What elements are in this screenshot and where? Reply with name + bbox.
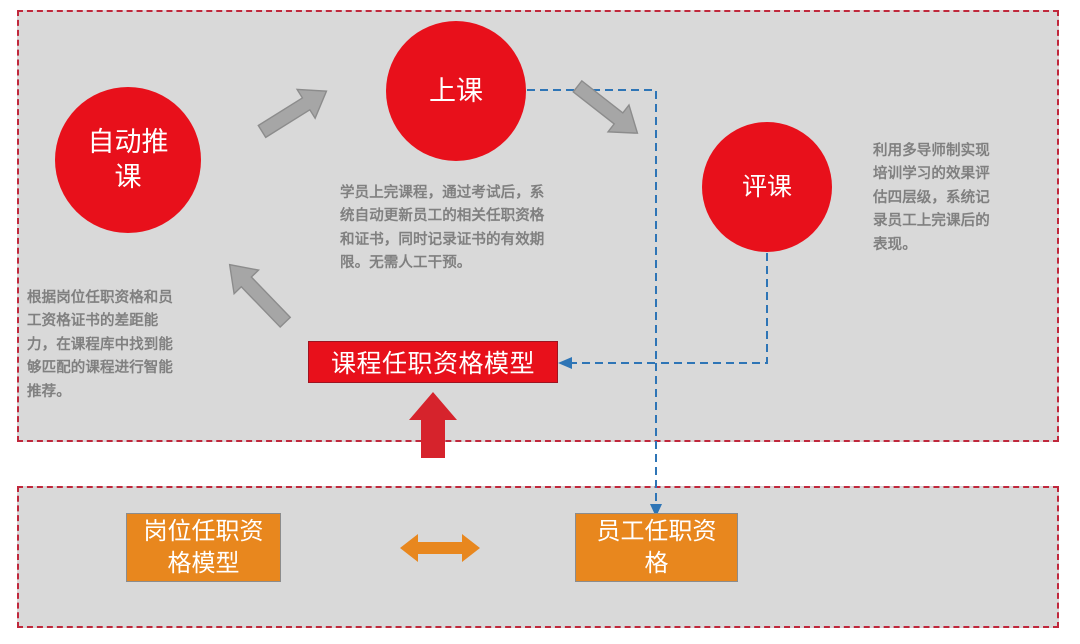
- description-left: 根据岗位任职资格和员工资格证书的差距能力，在课程库中找到能够匹配的课程进行智能推…: [27, 287, 179, 404]
- description-center: 学员上完课程，通过考试后，系统自动更新员工的相关任职资格和证书，同时记录证书的有…: [340, 182, 558, 276]
- node-review-class[interactable]: 评课: [702, 122, 832, 252]
- box-course-qualification-model[interactable]: 课程任职资格模型: [308, 341, 558, 383]
- node-attend-class[interactable]: 上课: [386, 21, 526, 161]
- box-post-qualification-model[interactable]: 岗位任职资 格模型: [126, 513, 281, 582]
- node-auto-push-course[interactable]: 自动推 课: [55, 87, 201, 233]
- box-employee-qualification[interactable]: 员工任职资 格: [575, 513, 738, 582]
- description-right: 利用多导师制实现培训学习的效果评估四层级，系统记录员工上完课后的表现。: [873, 140, 995, 257]
- diagram-canvas: 自动推 课 上课 评课 学员上完课程，通过考试后，系统自动更新员工的相关任职资格…: [0, 0, 1080, 644]
